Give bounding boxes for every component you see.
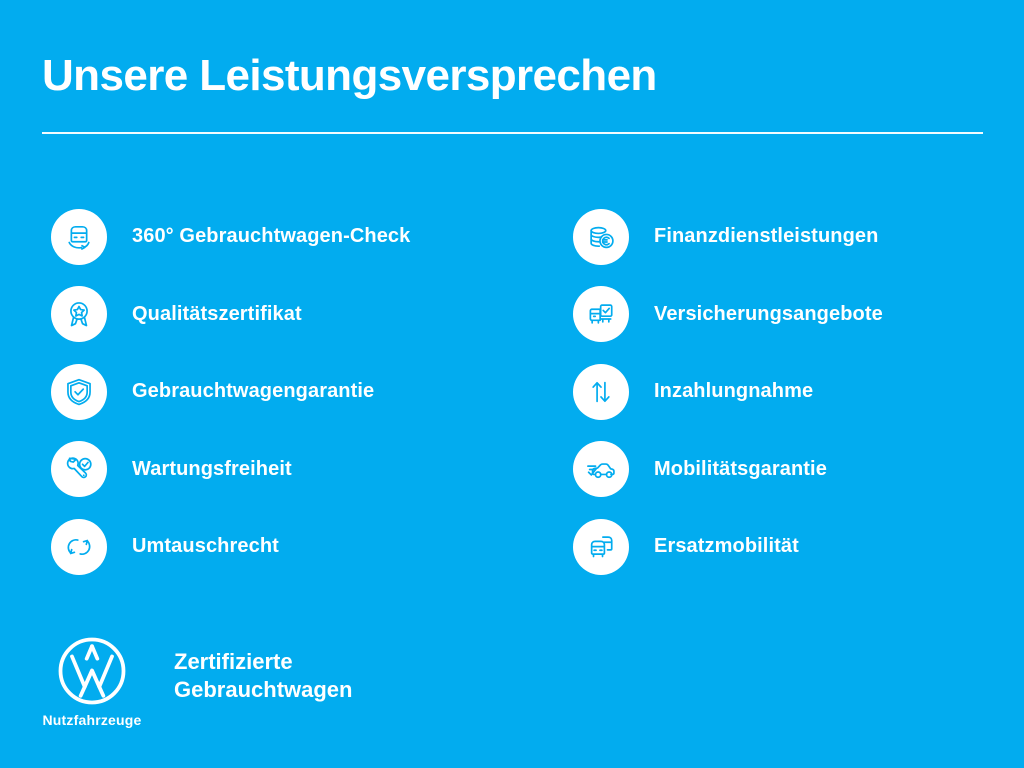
benefit-item-versicherungsangebote[interactable]: Versicherungsangebote bbox=[573, 276, 993, 354]
car-document-check-icon bbox=[573, 286, 629, 342]
award-rosette-icon bbox=[51, 286, 107, 342]
page-title: Unsere Leistungsversprechen bbox=[42, 50, 984, 102]
benefit-label: Qualitätszertifikat bbox=[132, 303, 302, 326]
coins-euro-icon bbox=[573, 209, 629, 265]
benefit-label: 360° Gebrauchtwagen-Check bbox=[132, 225, 410, 248]
exchange-arrows-icon bbox=[51, 519, 107, 575]
benefit-label: Finanzdienstleistungen bbox=[654, 225, 878, 248]
benefit-item-gebrauchtwagengarantie[interactable]: Gebrauchtwagengarantie bbox=[51, 353, 521, 431]
brand-mark: Nutzfahrzeuge bbox=[40, 636, 144, 728]
benefit-label: Umtauschrecht bbox=[132, 535, 279, 558]
benefit-label: Ersatzmobilität bbox=[654, 535, 799, 558]
benefit-column-left: 360° Gebrauchtwagen-Check Qualitätszerti… bbox=[51, 198, 521, 586]
brand-subline: Nutzfahrzeuge bbox=[42, 712, 141, 728]
benefit-label: Wartungsfreiheit bbox=[132, 458, 292, 481]
car-360-check-icon bbox=[51, 209, 107, 265]
benefit-label: Mobilitätsgarantie bbox=[654, 458, 827, 481]
brand-lockup: Nutzfahrzeuge Zertifizierte Gebrauchtwag… bbox=[40, 636, 352, 728]
wrench-check-icon bbox=[51, 441, 107, 497]
brand-claim: Zertifizierte Gebrauchtwagen bbox=[174, 648, 352, 704]
benefit-label: Inzahlungnahme bbox=[654, 380, 813, 403]
benefit-item-qualitaetszertifikat[interactable]: Qualitätszertifikat bbox=[51, 276, 521, 354]
brand-claim-line1: Zertifizierte bbox=[174, 648, 352, 676]
slide-canvas: Unsere Leistungsversprechen bbox=[0, 0, 1024, 768]
benefit-item-mobilitaetsgarantie[interactable]: Mobilitätsgarantie bbox=[573, 431, 993, 509]
benefit-label: Gebrauchtwagengarantie bbox=[132, 380, 374, 403]
car-speed-lines-icon bbox=[573, 441, 629, 497]
benefits-section: 360° Gebrauchtwagen-Check Qualitätszerti… bbox=[0, 198, 1024, 586]
benefit-item-umtauschrecht[interactable]: Umtauschrecht bbox=[51, 508, 521, 586]
shield-check-icon bbox=[51, 364, 107, 420]
benefit-item-gebrauchtwagen-check[interactable]: 360° Gebrauchtwagen-Check bbox=[51, 198, 521, 276]
benefit-label: Versicherungsangebote bbox=[654, 303, 883, 326]
benefit-item-wartungsfreiheit[interactable]: Wartungsfreiheit bbox=[51, 431, 521, 509]
benefit-item-finanzdienstleistungen[interactable]: Finanzdienstleistungen bbox=[573, 198, 993, 276]
vw-logo-icon bbox=[57, 636, 127, 706]
benefit-column-right: Finanzdienstleistungen bbox=[573, 198, 993, 586]
header: Unsere Leistungsversprechen bbox=[42, 50, 984, 134]
brand-claim-line2: Gebrauchtwagen bbox=[174, 676, 352, 704]
up-down-arrows-icon bbox=[573, 364, 629, 420]
benefit-item-inzahlungnahme[interactable]: Inzahlungnahme bbox=[573, 353, 993, 431]
two-cars-icon bbox=[573, 519, 629, 575]
benefit-item-ersatzmobilitaet[interactable]: Ersatzmobilität bbox=[573, 508, 993, 586]
title-divider bbox=[42, 132, 983, 134]
